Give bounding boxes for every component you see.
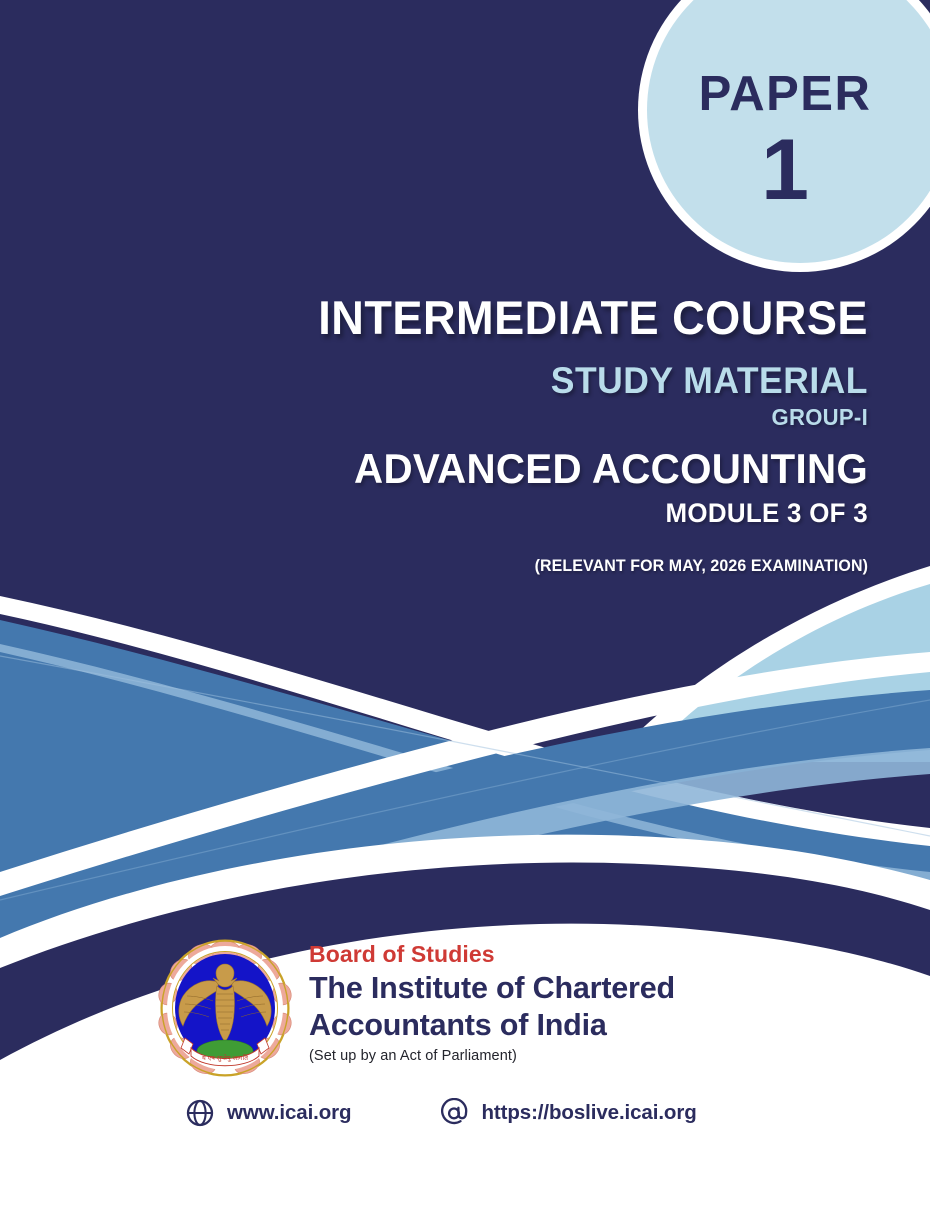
- website-url: www.icai.org: [227, 1101, 351, 1125]
- book-cover: PAPER 1 INTERMEDIATE COURSE STUDY MATERI…: [0, 0, 930, 1214]
- icai-logo: य एष सुप्तेषु जागर्ति: [155, 938, 295, 1078]
- portal-url: https://boslive.icai.org: [481, 1101, 696, 1125]
- institute-name-line2: Accountants of India: [309, 1008, 675, 1042]
- title-stack: INTERMEDIATE COURSE STUDY MATERIAL GROUP…: [0, 292, 868, 575]
- act-of-parliament-note: (Set up by an Act of Parliament): [309, 1048, 675, 1065]
- paper-label: PAPER: [640, 70, 930, 119]
- group-label: GROUP-I: [35, 404, 868, 430]
- icai-emblem-icon: य एष सुप्तेषु जागर्ति: [155, 938, 295, 1078]
- paper-number: 1: [640, 125, 930, 215]
- board-of-studies-label: Board of Studies: [309, 941, 675, 968]
- paper-badge: PAPER 1: [640, 70, 930, 215]
- footer-links: www.icai.org https://boslive.icai.org: [185, 1098, 785, 1128]
- globe-icon: [185, 1098, 215, 1128]
- organisation-text: Board of Studies The Institute of Charte…: [309, 938, 675, 1066]
- module-label: MODULE 3 OF 3: [35, 498, 868, 529]
- subject-title: ADVANCED ACCOUNTING: [35, 445, 868, 492]
- exam-relevance-note: (RELEVANT FOR MAY, 2026 EXAMINATION): [52, 556, 868, 576]
- at-icon: [439, 1098, 469, 1128]
- website-link[interactable]: www.icai.org: [185, 1098, 351, 1128]
- organisation-block: य एष सुप्तेषु जागर्ति Board of Studies T…: [155, 938, 835, 1078]
- study-material-label: STUDY MATERIAL: [35, 360, 868, 401]
- logo-motto-text: य एष सुप्तेषु जागर्ति: [202, 1054, 249, 1062]
- portal-link[interactable]: https://boslive.icai.org: [439, 1098, 696, 1128]
- course-title: INTERMEDIATE COURSE: [35, 292, 868, 344]
- institute-name-line1: The Institute of Chartered: [309, 971, 675, 1005]
